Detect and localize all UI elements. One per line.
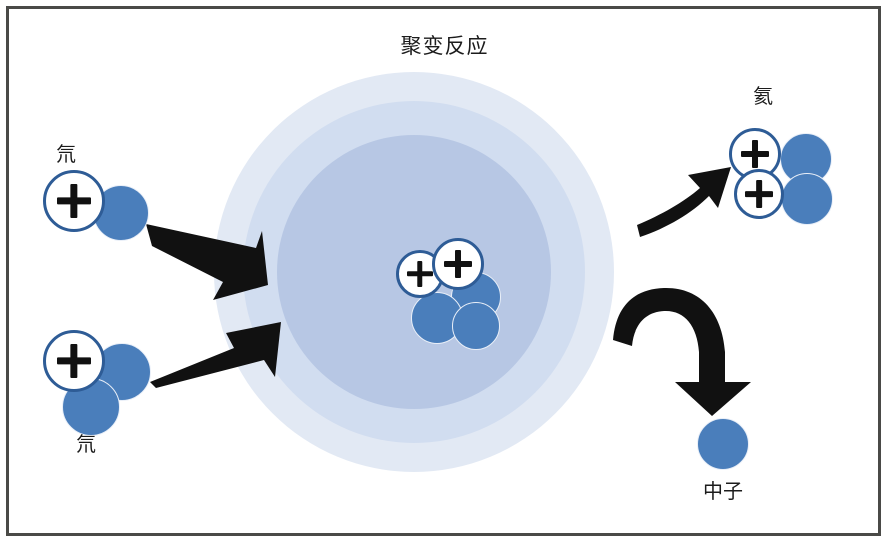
- proton-circle: [734, 169, 784, 219]
- proton-circle: [43, 330, 105, 392]
- neutron-circle: [697, 418, 749, 470]
- proton-circle: [432, 238, 484, 290]
- neutron-circle: [452, 302, 500, 350]
- diagram-title: 聚变反应: [0, 30, 889, 60]
- label-reactant-bottom: 氘: [66, 428, 106, 457]
- proton-circle: [43, 170, 105, 232]
- fusion-diagram: 聚变反应 氘 氘: [0, 0, 889, 543]
- label-product-helium: 氦: [743, 80, 783, 109]
- label-reactant-top: 氘: [46, 138, 86, 167]
- plus-icon: [407, 261, 433, 287]
- plus-icon: [741, 140, 770, 169]
- plus-icon: [745, 180, 772, 207]
- label-product-neutron: 中子: [686, 475, 760, 504]
- plus-icon: [57, 184, 92, 219]
- plus-icon: [444, 250, 473, 279]
- neutron-circle: [781, 173, 833, 225]
- plus-icon: [57, 344, 92, 379]
